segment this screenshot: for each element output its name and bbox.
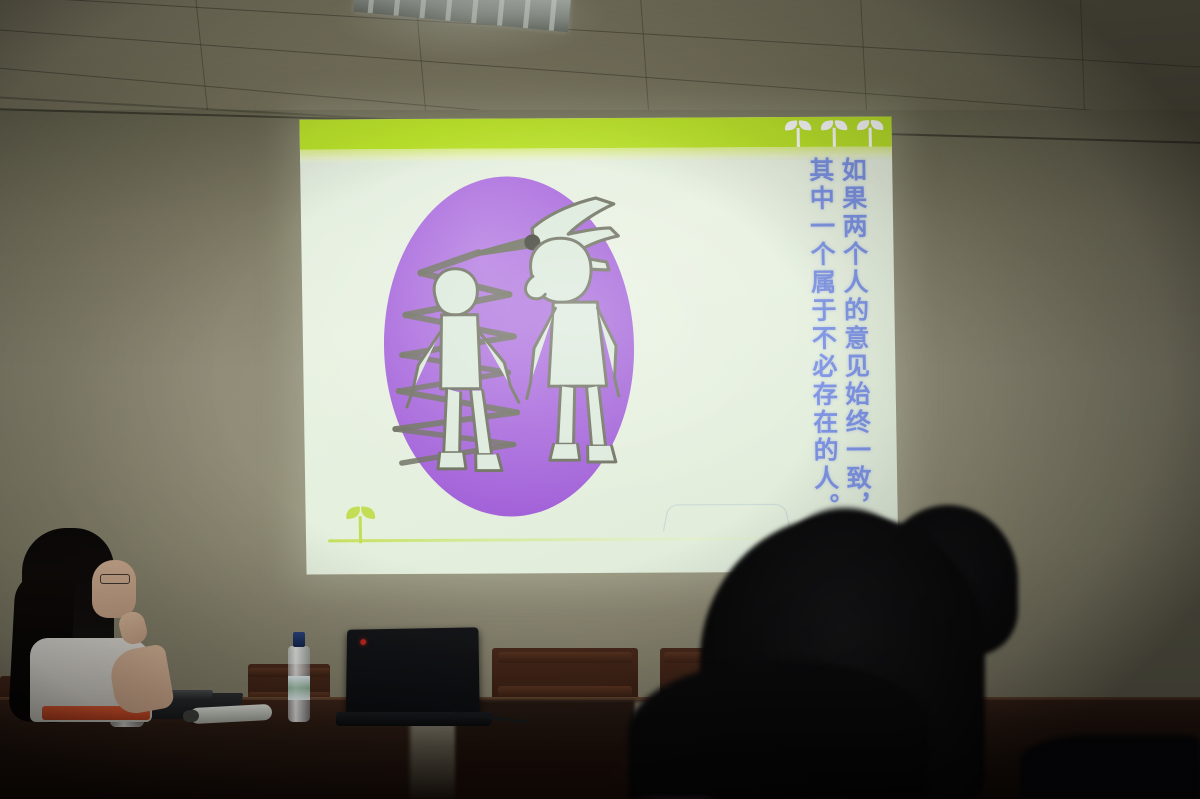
presentation-slide: 如果两个人的意见始终一致，那么 其中一个属于不必存在的人。 (299, 116, 898, 574)
slide-text-column-1: 如果两个人的意见始终一致，那么 (836, 157, 873, 547)
ceiling-grid-line (640, 0, 649, 116)
laptop-logo-indicator (360, 639, 366, 645)
meeting-room: 如果两个人的意见始终一致，那么 其中一个属于不必存在的人。 (0, 0, 1200, 799)
photo-scene: 如果两个人的意见始终一致，那么 其中一个属于不必存在的人。 (0, 0, 1200, 799)
slide-text-column-2: 其中一个属于不必存在的人。 (803, 157, 840, 547)
ceiling-grid-line (860, 0, 867, 116)
glasses (100, 574, 130, 584)
face (92, 560, 136, 618)
sprout-icon (346, 507, 377, 543)
cartoon-illustration (381, 176, 636, 517)
foreground-shoulder-silhouette (1020, 735, 1200, 799)
water-bottle (288, 632, 310, 722)
ceiling-grid-line (1080, 0, 1085, 116)
sprout-icon (856, 119, 883, 147)
chair-slat (498, 652, 632, 663)
ceiling (0, 0, 1200, 122)
ceiling-grid-line (0, 0, 1200, 69)
projector-screen: 如果两个人的意见始终一致，那么 其中一个属于不必存在的人。 (299, 116, 898, 574)
chair-slat (498, 686, 632, 697)
black-laptop (346, 627, 480, 717)
seated-woman (8, 520, 188, 740)
sprout-icon (820, 119, 847, 147)
slide-vertical-text: 如果两个人的意见始终一致，那么 其中一个属于不必存在的人。 (803, 157, 872, 547)
ceiling-light-fixture (354, 0, 572, 32)
faint-outline-shape (663, 504, 791, 531)
ceiling-grid-line (195, 0, 209, 115)
bottle-cap (293, 632, 305, 647)
foreground-audience-silhouette (628, 660, 928, 799)
banner-sprout-group (784, 119, 883, 148)
sprout-icon (784, 119, 811, 147)
